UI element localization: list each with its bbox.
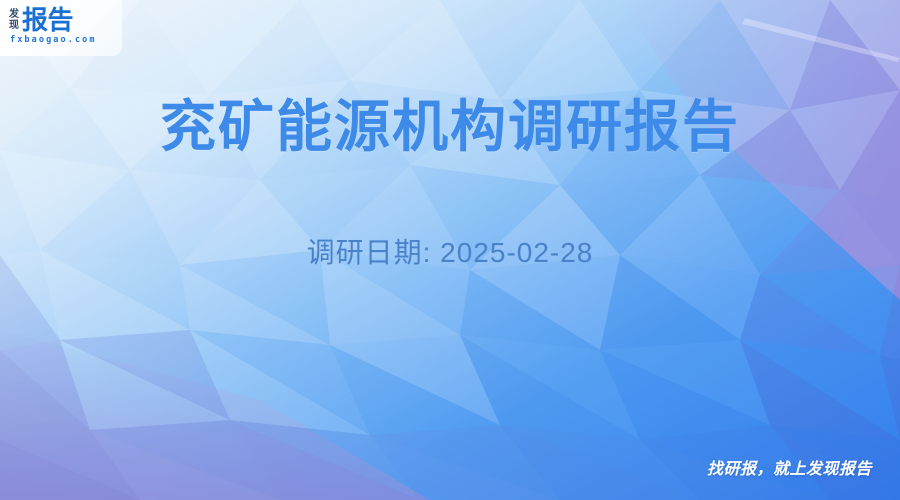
logo-inner: 发 现 报告 [9,7,122,34]
logo-wordmark: 报告 [22,7,73,34]
cover-subtitle-date: 调研日期: 2025-02-28 [0,233,900,273]
logo-domain: fxbaogao.com [10,35,122,45]
logo-mark-icon: 发 现 [9,7,19,31]
page-title: 兖矿能源机构调研报告 [0,92,900,162]
brand-logo[interactable]: 发 现 报告 fxbaogao.com [0,0,122,56]
logo-mark-char-1: 发 [9,9,19,20]
logo-mark-char-2: 现 [9,20,19,31]
report-cover-page: 发 现 报告 fxbaogao.com 兖矿能源机构调研报告 调研日期: 202… [0,0,900,500]
brand-slogan: 找研报，就上发现报告 [707,460,872,480]
